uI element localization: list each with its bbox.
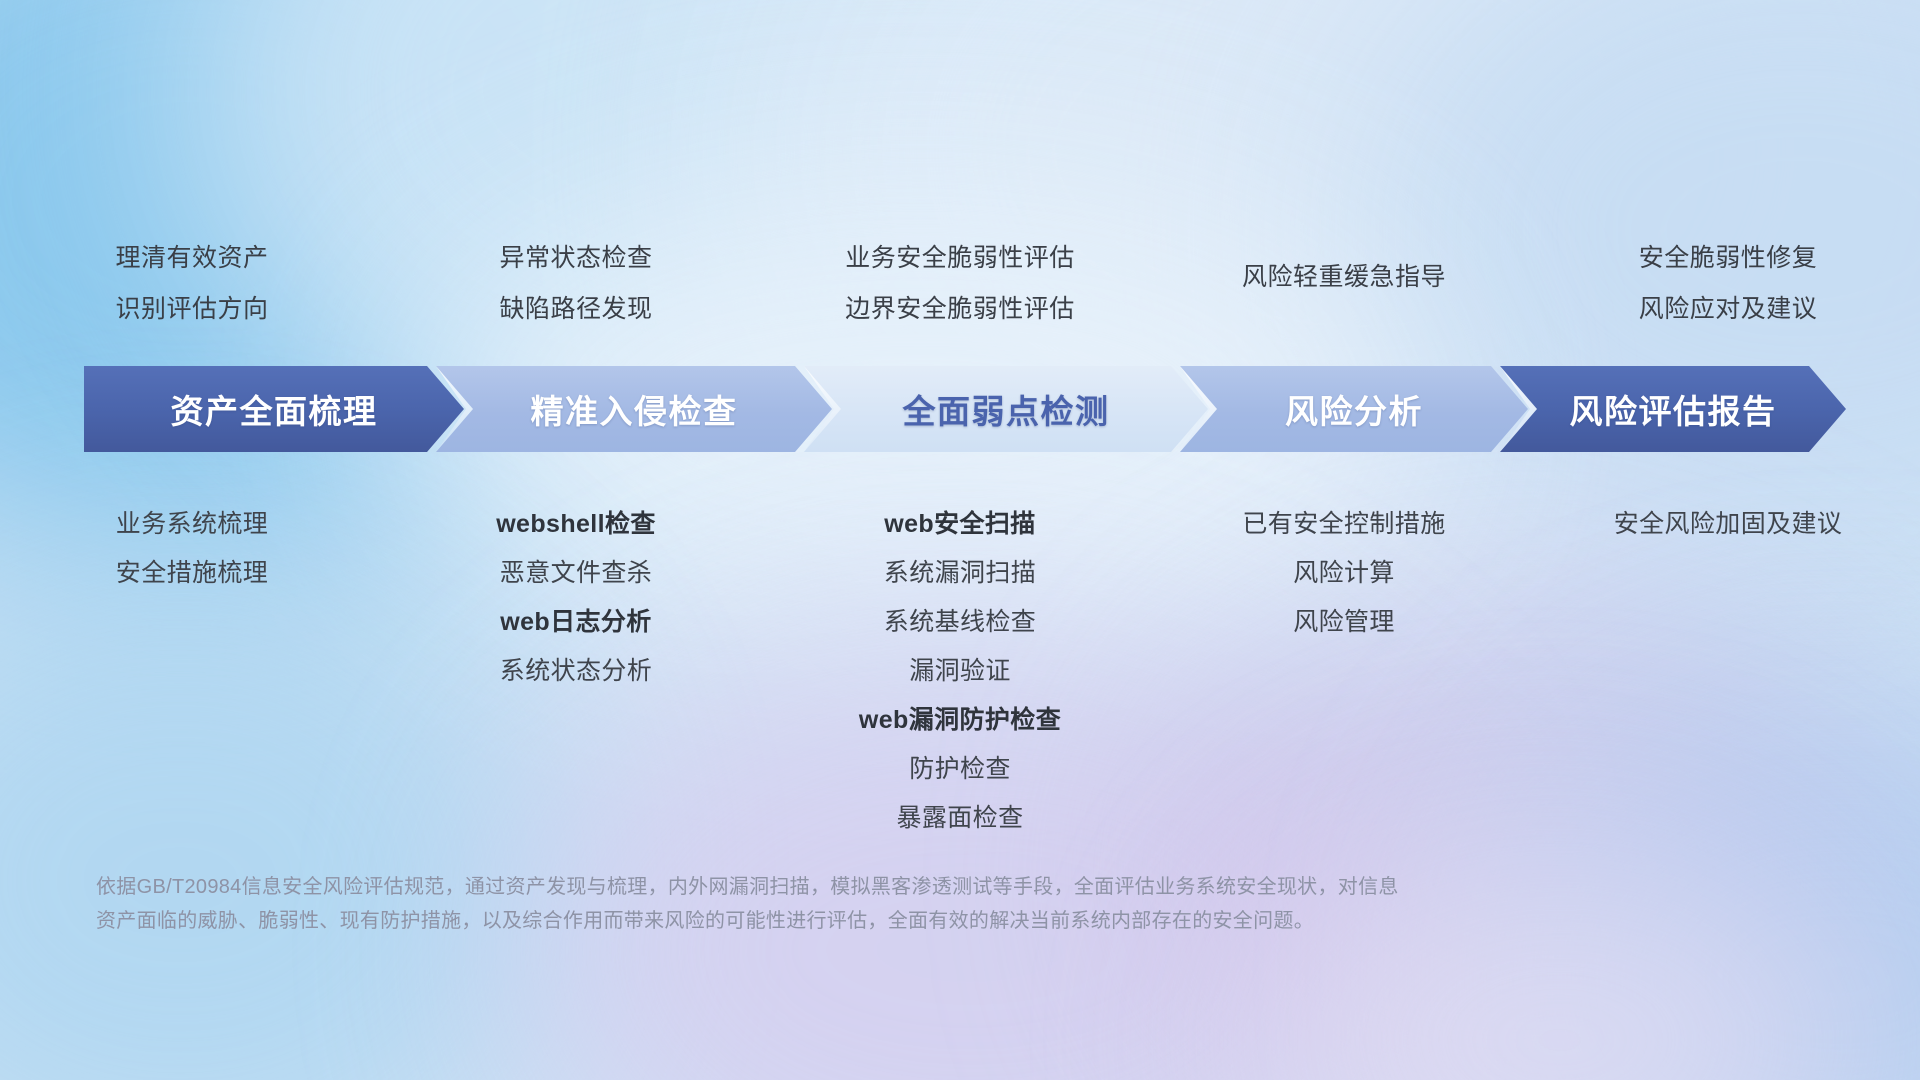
list-item: web漏洞防护检查	[859, 696, 1061, 745]
list-item: 风险计算	[1293, 549, 1395, 598]
stage-title: 风险评估报告	[1570, 385, 1777, 433]
list-item: web日志分析	[500, 598, 651, 647]
bottom-list-asset-inventory: 业务系统梳理 安全措施梳理	[0, 500, 384, 843]
list-item: 恶意文件查杀	[500, 549, 652, 598]
list-item: 风险管理	[1293, 598, 1395, 647]
top-label: 安全脆弱性修复	[1639, 233, 1818, 284]
stage-chevron-risk-analysis[interactable]: 风险分析	[1180, 366, 1528, 452]
list-item: 系统状态分析	[500, 647, 652, 696]
stage-chevron-weakness-detection[interactable]: 全面弱点检测	[804, 366, 1208, 452]
list-item: 系统漏洞扫描	[884, 549, 1036, 598]
list-item: 暴露面检查	[896, 794, 1023, 843]
list-item: 漏洞验证	[909, 647, 1011, 696]
list-item: 安全风险加固及建议	[1614, 500, 1843, 549]
stage-title: 精准入侵检查	[531, 385, 738, 433]
bottom-list-risk-report: 安全风险加固及建议	[1536, 500, 1920, 843]
top-labels-asset-inventory: 理清有效资产 识别评估方向	[0, 233, 384, 335]
top-labels-weakness-detection: 业务安全脆弱性评估 边界安全脆弱性评估	[768, 233, 1152, 335]
footer-line: 资产面临的威胁、脆弱性、现有防护措施，以及综合作用而带来风险的可能性进行评估，全…	[96, 904, 1656, 938]
top-label: 理清有效资产	[115, 233, 268, 284]
stage-title: 风险分析	[1285, 385, 1423, 433]
stage-chevron-asset-inventory[interactable]: 资产全面梳理	[84, 366, 464, 452]
list-item: 业务系统梳理	[116, 500, 268, 549]
top-labels-risk-analysis: 风险轻重缓急指导	[1152, 233, 1536, 335]
top-labels-risk-report: 安全脆弱性修复 风险应对及建议	[1536, 233, 1920, 335]
stage-chevron-band: 资产全面梳理 精准入侵检查 全面弱点检测 风险分析 风险评估报告	[84, 366, 1846, 452]
stage-title: 全面弱点检测	[903, 385, 1110, 433]
list-item: webshell检查	[496, 500, 656, 549]
footer-line: 依据GB/T20984信息安全风险评估规范，通过资产发现与梳理，内外网漏洞扫描，…	[96, 870, 1656, 904]
top-label: 缺陷路径发现	[499, 284, 652, 335]
top-label: 风险应对及建议	[1639, 284, 1818, 335]
top-labels-row: 理清有效资产 识别评估方向 异常状态检查 缺陷路径发现 业务安全脆弱性评估 边界…	[0, 233, 1920, 335]
stage-title: 资产全面梳理	[171, 385, 378, 433]
footer-description: 依据GB/T20984信息安全风险评估规范，通过资产发现与梳理，内外网漏洞扫描，…	[96, 870, 1656, 938]
top-label: 识别评估方向	[115, 284, 268, 335]
top-label: 风险轻重缓急指导	[1242, 252, 1446, 303]
bottom-list-risk-analysis: 已有安全控制措施 风险计算 风险管理	[1152, 500, 1536, 843]
list-item: 已有安全控制措施	[1242, 500, 1445, 549]
process-diagram: 理清有效资产 识别评估方向 异常状态检查 缺陷路径发现 业务安全脆弱性评估 边界…	[0, 0, 1920, 1080]
list-item: 防护检查	[909, 745, 1011, 794]
bottom-list-intrusion-check: webshell检查 恶意文件查杀 web日志分析 系统状态分析	[384, 500, 768, 843]
list-item: 系统基线检查	[884, 598, 1036, 647]
bottom-list-weakness-detection: web安全扫描 系统漏洞扫描 系统基线检查 漏洞验证 web漏洞防护检查 防护检…	[768, 500, 1152, 843]
stage-chevron-intrusion-check[interactable]: 精准入侵检查	[436, 366, 832, 452]
top-label: 业务安全脆弱性评估	[845, 233, 1075, 284]
stage-chevron-risk-report[interactable]: 风险评估报告	[1500, 366, 1846, 452]
top-label: 边界安全脆弱性评估	[845, 284, 1075, 335]
list-item: 安全措施梳理	[116, 549, 268, 598]
list-item: web安全扫描	[884, 500, 1035, 549]
top-label: 异常状态检查	[499, 233, 652, 284]
top-labels-intrusion-check: 异常状态检查 缺陷路径发现	[384, 233, 768, 335]
bottom-lists-row: 业务系统梳理 安全措施梳理 webshell检查 恶意文件查杀 web日志分析 …	[0, 500, 1920, 843]
